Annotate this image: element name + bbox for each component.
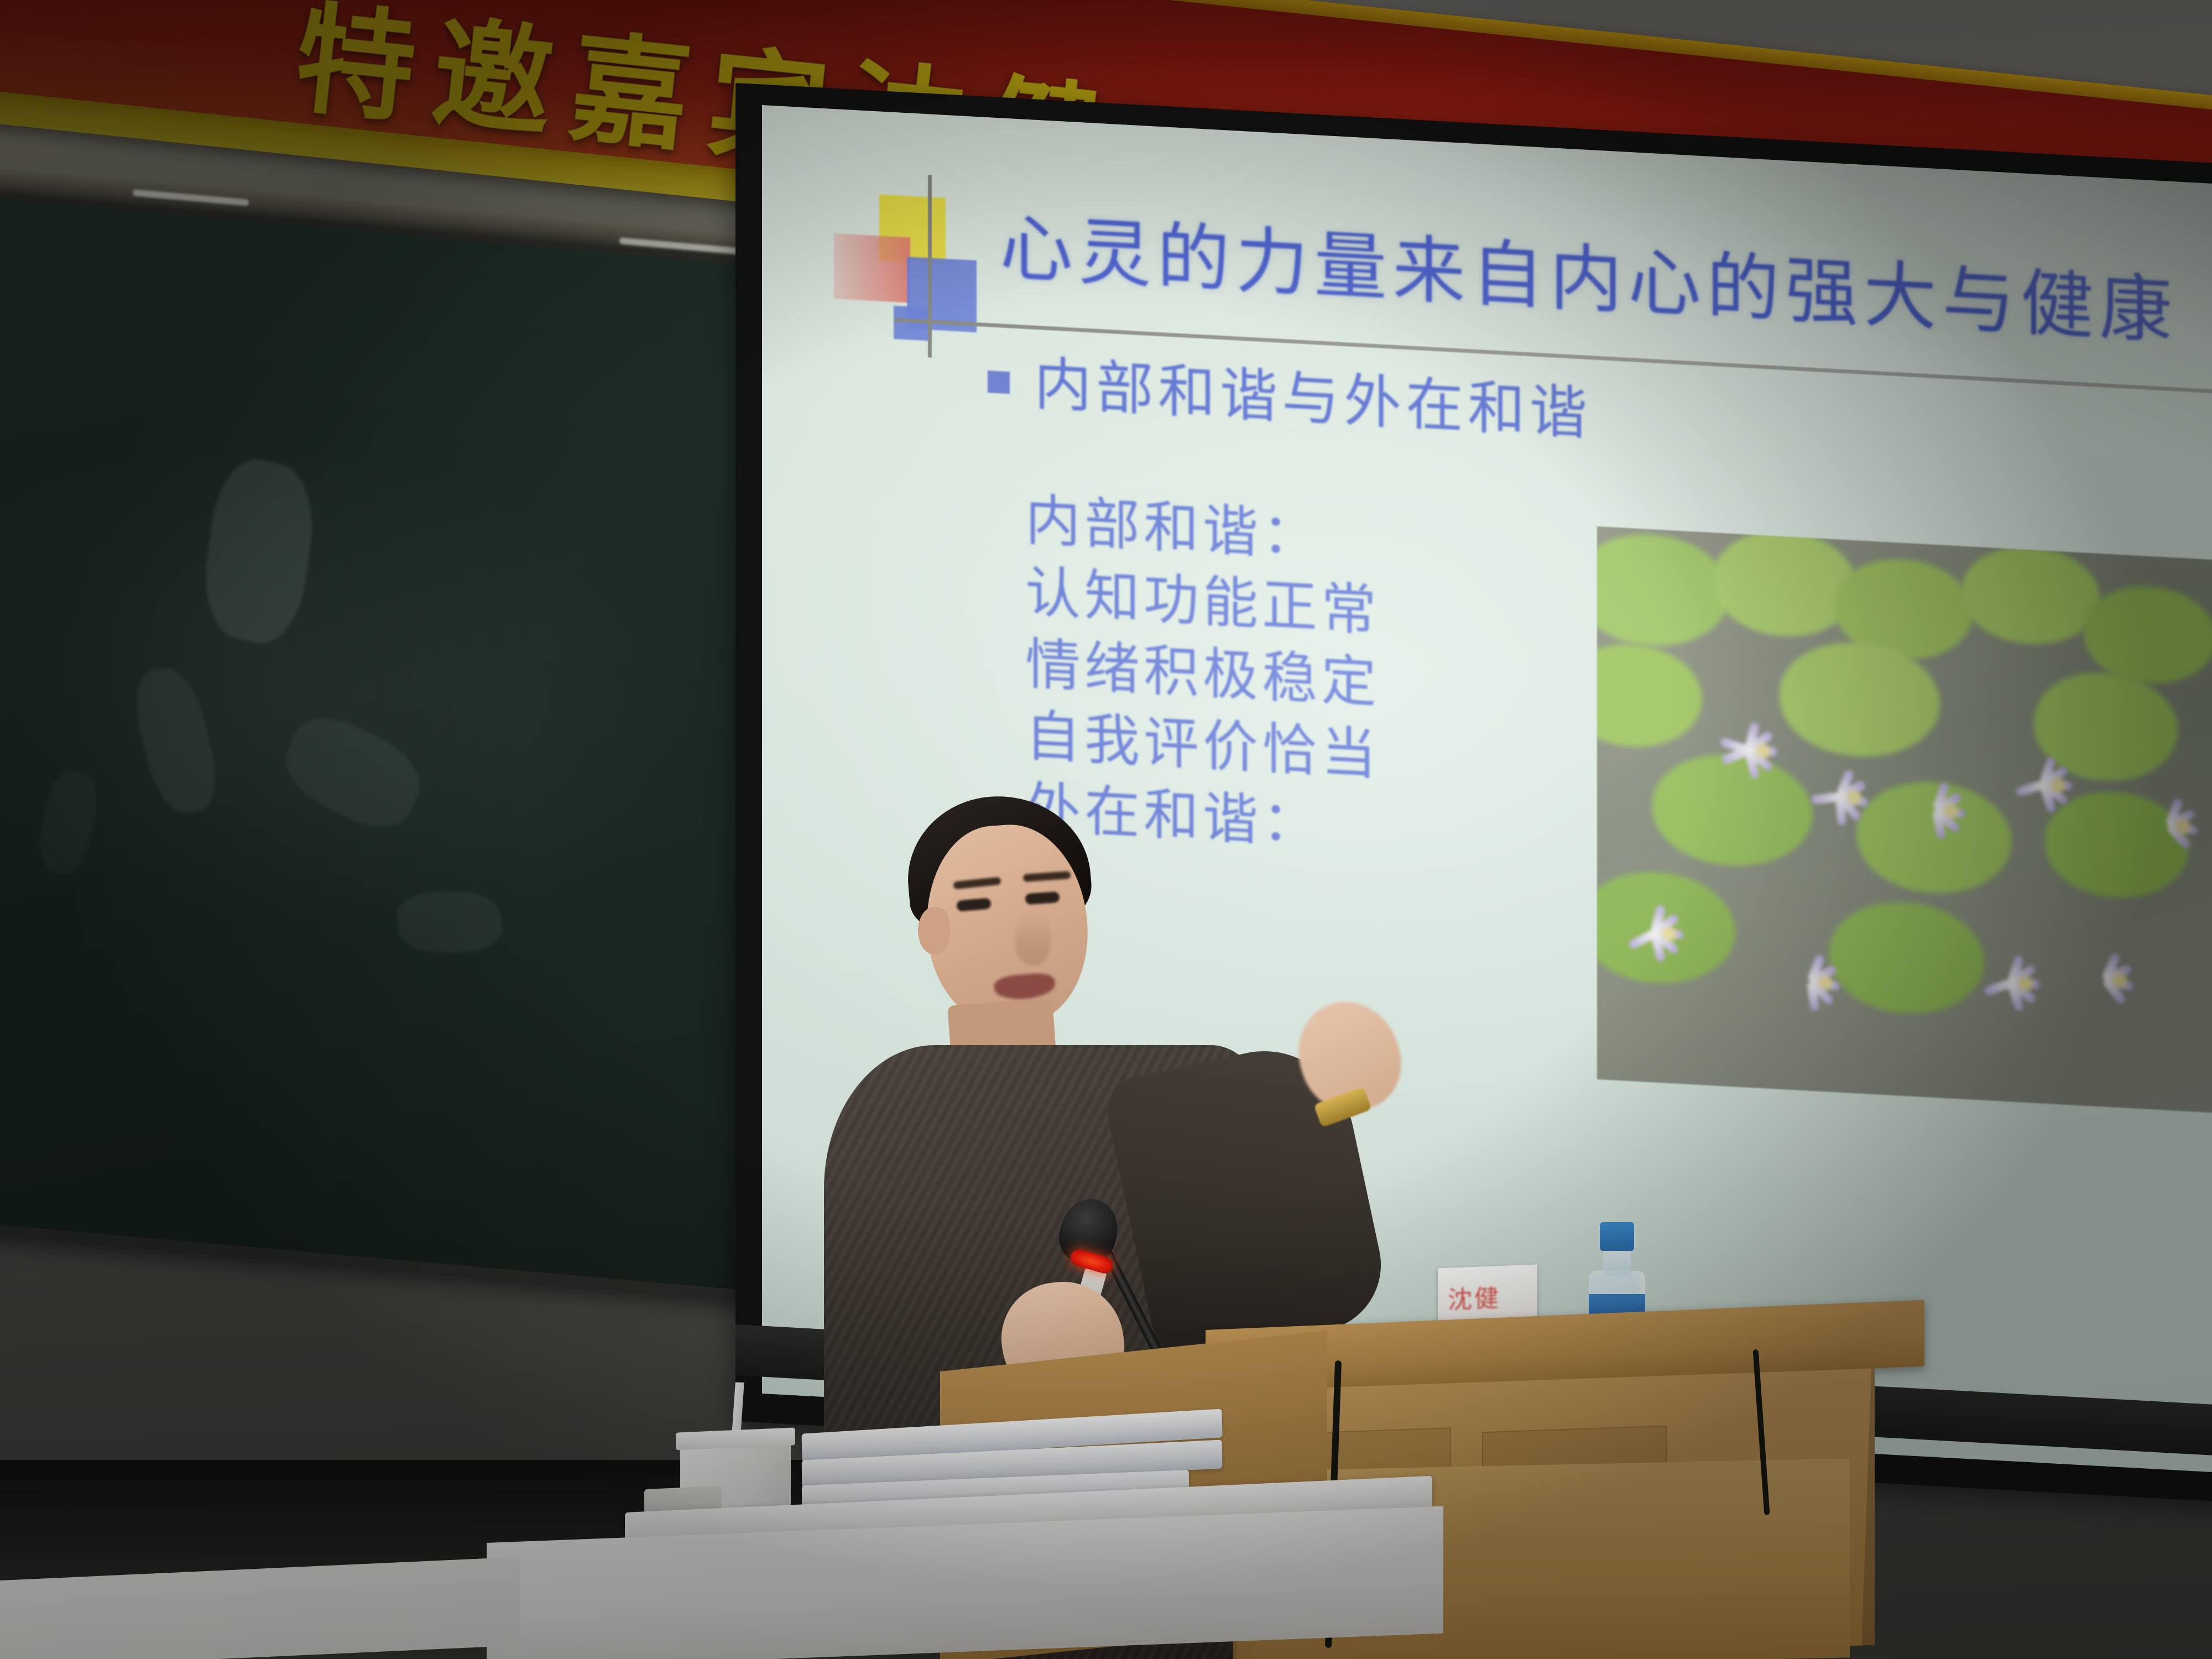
speaker-nose <box>1015 912 1051 966</box>
slide-bullet-row: 内部和谐与外在和谐 <box>988 349 1592 446</box>
water-lily-bloom <box>1807 748 1901 847</box>
chalk-smudge <box>394 891 505 954</box>
slide-decor-salmon-square <box>834 233 910 302</box>
lily-pad <box>1597 531 1730 650</box>
water-lily-bloom <box>1619 881 1719 987</box>
water-lily-bloom <box>2006 731 2109 839</box>
chalk-dust <box>133 189 249 206</box>
chalk-smudge <box>33 765 103 880</box>
slide-decor-vertical-rule <box>928 175 932 357</box>
bullet-square-icon <box>988 371 1010 394</box>
water-lily-bloom <box>1907 764 1995 858</box>
slide-image-water-lily-pond <box>1597 526 2212 1114</box>
bottle-neck <box>1603 1248 1631 1275</box>
blackboard-surface <box>0 198 822 1297</box>
lecture-hall-photo: 特邀嘉宾沈健 心灵的力量来自内心的强大与健康 内部和谐与外在和谐 内 <box>0 0 2212 1659</box>
chalk-smudge <box>126 664 225 817</box>
chalk-smudge <box>197 451 321 651</box>
lily-pad <box>1962 544 2100 648</box>
water-lily-bloom <box>2075 934 2164 1027</box>
lily-pad <box>2084 583 2212 687</box>
name-card-text: 沈健 <box>1448 1278 1501 1316</box>
chalk-smudge <box>275 703 431 842</box>
bottle-cap <box>1600 1222 1634 1251</box>
lily-pad <box>1713 527 1857 640</box>
slide-title: 心灵的力量来自内心的强大与健康 <box>1000 207 2178 353</box>
slide-bullet-text: 内部和谐与外在和谐 <box>1034 352 1592 446</box>
water-lily-bloom <box>1780 935 1871 1031</box>
lily-pad <box>1597 641 1702 751</box>
water-lily-bloom <box>1713 698 1813 804</box>
blackboard-frame <box>0 182 830 1308</box>
water-lily-bloom <box>2142 782 2212 870</box>
water-lily-bloom <box>1973 928 2078 1039</box>
speaker-ear <box>918 907 950 954</box>
